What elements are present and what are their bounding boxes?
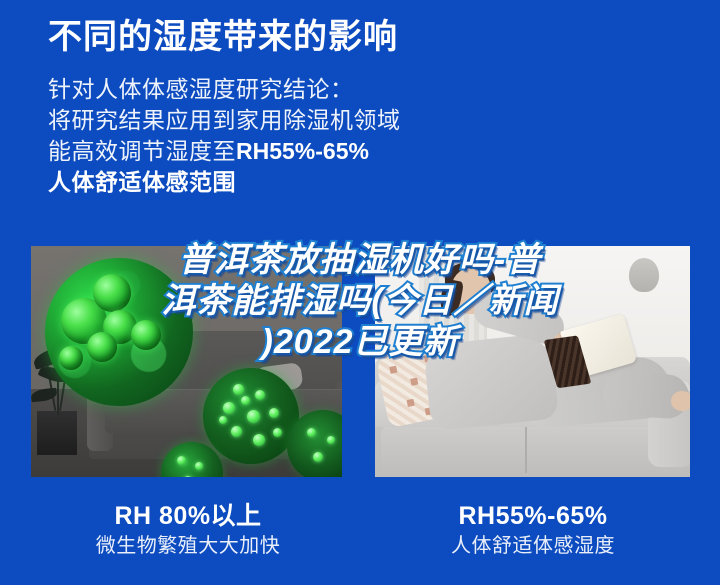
body-line-2: 将研究结果应用到家用除湿机领域 — [48, 105, 668, 136]
light-sofa-seam — [525, 427, 527, 473]
bacteria-sphere-6 — [59, 346, 83, 370]
caption-right: RH55%-65% 人体舒适体感湿度 — [368, 500, 698, 560]
poster-canvas: 不同的湿度带来的影响 针对人体体感湿度研究结论： 将研究结果应用到家用除湿机领域… — [0, 0, 720, 585]
wall-decor-icon — [629, 258, 659, 292]
plant-pot — [37, 411, 77, 455]
photo-left-microbes — [31, 246, 342, 477]
bacteria-sphere-4 — [87, 332, 117, 362]
light-room-scene — [375, 246, 690, 477]
body-line-3-range: RH55%-65% — [236, 138, 369, 164]
bacteria-sphere-5 — [131, 320, 161, 350]
page-title: 不同的湿度带来的影响 — [48, 14, 668, 60]
body-line-3: 能高效调节湿度至RH55%-65% — [48, 136, 668, 167]
light-sofa-seat — [381, 427, 683, 473]
photo-right-comfort — [375, 246, 690, 477]
body-line-3-prefix: 能高效调节湿度至 — [48, 138, 236, 164]
caption-right-sub: 人体舒适体感湿度 — [368, 532, 698, 560]
mold-blob-icon — [45, 258, 193, 406]
bacteria-sphere-2 — [93, 274, 131, 312]
person-torso — [423, 333, 559, 432]
person-foot — [671, 391, 690, 411]
dark-room-scene — [31, 246, 342, 477]
body-line-1: 针对人体体感湿度研究结论： — [48, 74, 668, 105]
body-line-4: 人体舒适体感范围 — [48, 167, 668, 198]
caption-left-sub: 微生物繁殖大大加快 — [23, 532, 353, 560]
caption-row: RH 80%以上 微生物繁殖大大加快 RH55%-65% 人体舒适体感湿度 — [0, 500, 720, 585]
virus-sphere-large-icon — [203, 368, 299, 464]
header-block: 不同的湿度带来的影响 针对人体体感湿度研究结论： 将研究结果应用到家用除湿机领域… — [48, 14, 668, 198]
photo-row — [0, 246, 720, 477]
caption-right-title: RH55%-65% — [368, 500, 698, 532]
header-body: 针对人体体感湿度研究结论： 将研究结果应用到家用除湿机领域 能高效调节湿度至RH… — [48, 74, 668, 198]
caption-left-title: RH 80%以上 — [23, 500, 353, 532]
caption-left: RH 80%以上 微生物繁殖大大加快 — [23, 500, 353, 560]
